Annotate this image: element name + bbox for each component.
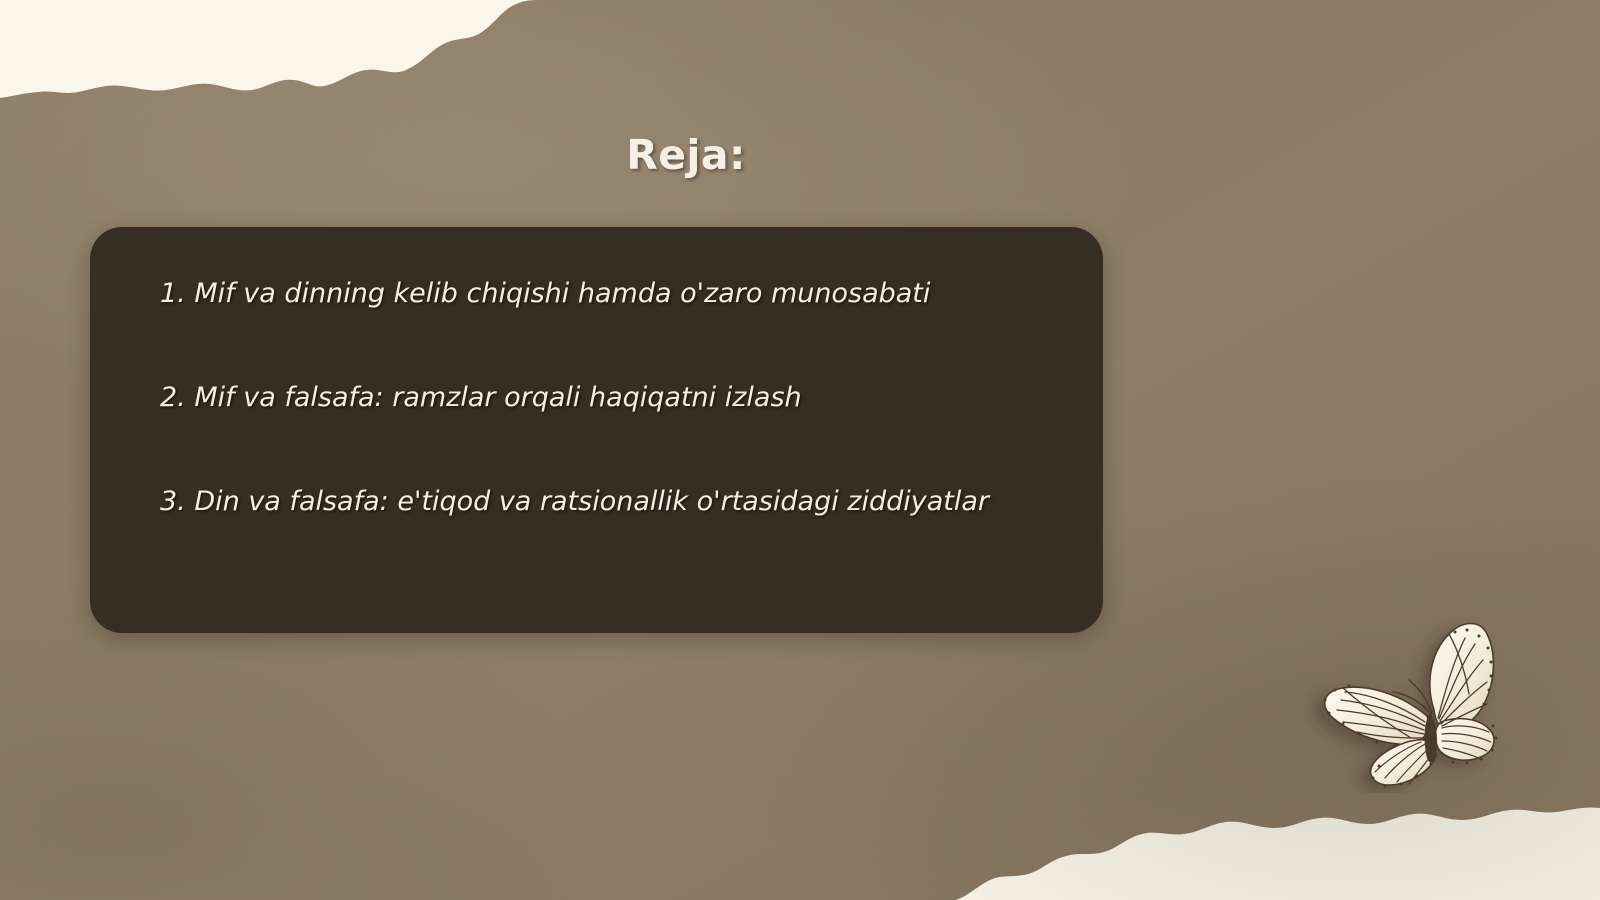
plan-panel: 1. Mif va dinning kelib chiqishi hamda o… bbox=[90, 227, 1103, 633]
list-item: 3. Din va falsafa: e'tiqod va ratsionall… bbox=[160, 485, 1073, 519]
slide-canvas: Reja: 1. Mif va dinning kelib chiqishi h… bbox=[0, 0, 1600, 900]
list-item: 2. Mif va falsafa: ramzlar orqali haqiqa… bbox=[160, 381, 1073, 415]
plan-list: 1. Mif va dinning kelib chiqishi hamda o… bbox=[160, 277, 1073, 518]
page-title: Reja: bbox=[0, 131, 1372, 179]
list-item: 1. Mif va dinning kelib chiqishi hamda o… bbox=[160, 277, 1073, 311]
butterfly-icon bbox=[1305, 618, 1505, 793]
